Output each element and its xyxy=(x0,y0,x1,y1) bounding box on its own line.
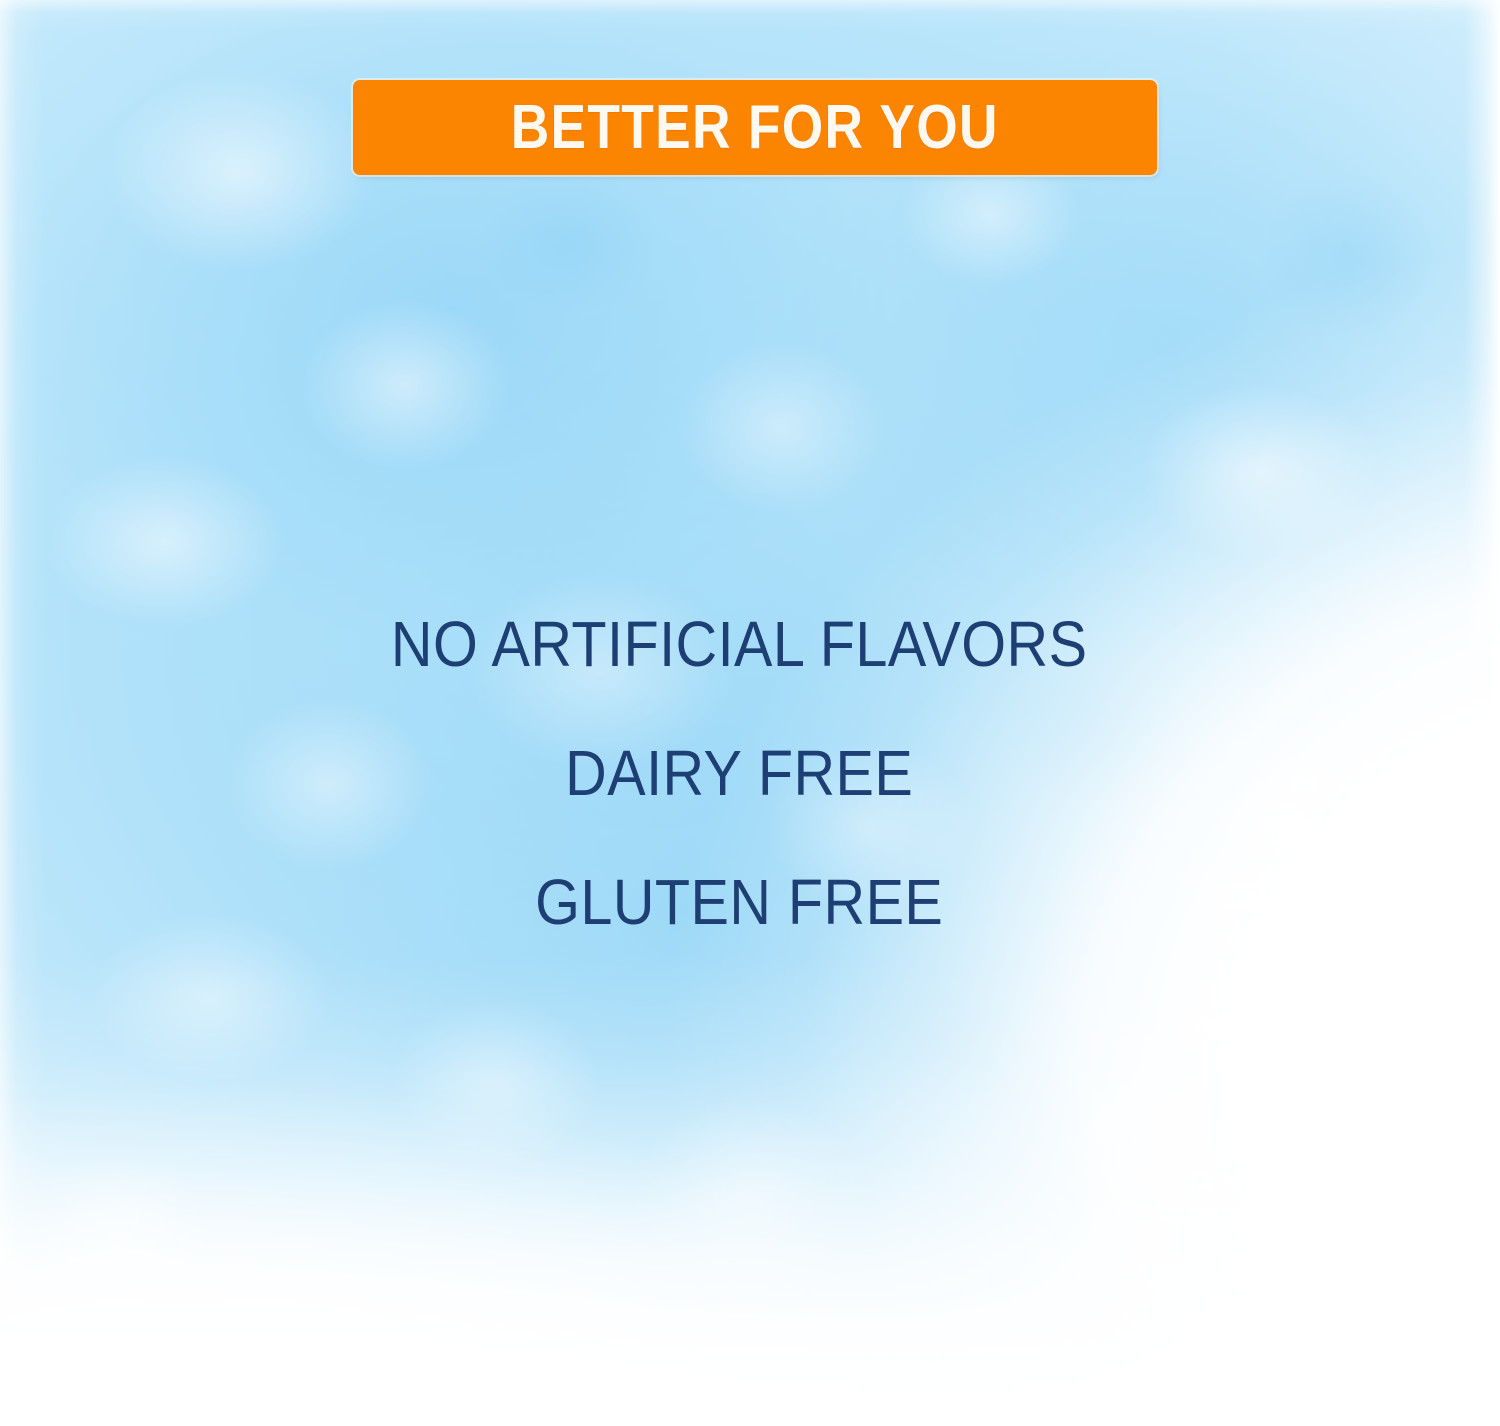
claim-dairy-free: DAIRY FREE xyxy=(64,709,1414,838)
product-claims-banner: BETTER FOR YOU NO ARTIFICIAL FLAVORS DAI… xyxy=(0,0,1500,1426)
claim-gluten-free: GLUTEN FREE xyxy=(64,838,1414,967)
claim-no-artificial-flavors: NO ARTIFICIAL FLAVORS xyxy=(64,580,1414,709)
claims-list: NO ARTIFICIAL FLAVORS DAIRY FREE GLUTEN … xyxy=(0,580,1500,967)
better-for-you-banner: BETTER FOR YOU xyxy=(353,80,1157,175)
banner-label: BETTER FOR YOU xyxy=(511,97,999,159)
